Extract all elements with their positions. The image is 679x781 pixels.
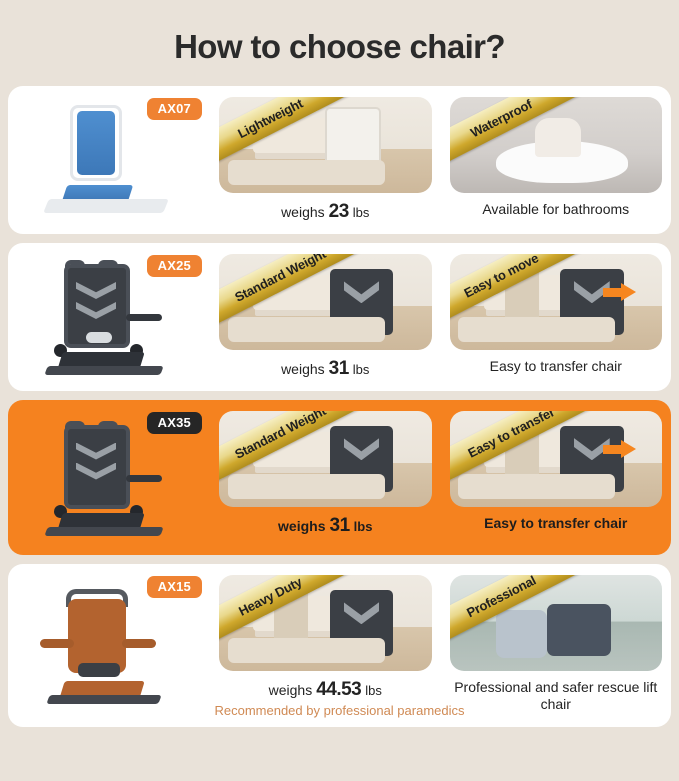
feature-photo: Easy to transfer: [450, 411, 663, 507]
model-badge-ax35[interactable]: AX35: [147, 412, 202, 434]
feature-caption: Easy to transfer chair: [490, 358, 622, 375]
chair-armrest-right: [122, 639, 156, 648]
product-cell: AX07: [8, 86, 210, 234]
product-row-ax15[interactable]: AX15 Heavy: [8, 564, 671, 727]
product-cell: AX25: [8, 243, 210, 391]
chair-armrest: [126, 314, 162, 321]
weight-prefix: weighs: [269, 682, 313, 699]
upright-chair-illustration: [560, 426, 624, 491]
chair-image-ax07: [34, 103, 184, 223]
weight-unit: lbs: [354, 519, 373, 535]
weight-number: 44.53: [316, 679, 361, 702]
weight-number: 31: [329, 358, 349, 381]
feature-caption: weighs 31 lbs: [281, 358, 369, 381]
right-arrow-icon: [603, 440, 637, 458]
weight-unit: lbs: [365, 683, 382, 699]
paramedic-recommendation-note: Recommended by professional paramedics: [8, 703, 671, 718]
product-row-ax07[interactable]: AX07 Lightweight: [8, 86, 671, 234]
feature-caption: weighs 44.53 lbs: [269, 679, 382, 702]
feature-photo: Heavy Duty: [219, 575, 432, 671]
chair-image-ax15: [34, 589, 184, 709]
feature-caption: weighs 31 lbs: [278, 515, 372, 538]
chair-image-ax35: [34, 421, 184, 541]
product-rows: AX07 Lightweight: [0, 86, 679, 727]
model-badge-ax25[interactable]: AX25: [147, 255, 202, 277]
feature-caption: weighs 23 lbs: [281, 201, 369, 224]
weight-number: 31: [330, 515, 350, 538]
weight-unit: lbs: [353, 362, 370, 378]
feature-photo: Standard Weight: [219, 254, 432, 350]
weight-number: 23: [329, 201, 349, 224]
folded-chair-illustration: [330, 269, 394, 334]
feature-photo: Standard Weight: [219, 411, 432, 507]
feature-photo: Waterproof: [450, 97, 663, 193]
chair-armrest-left: [40, 639, 74, 648]
chair-base-rail: [44, 527, 163, 536]
chair-frame: [64, 425, 130, 509]
brand-logo: [78, 663, 120, 677]
feature-caption: Easy to transfer chair: [484, 515, 627, 532]
page-title: How to choose chair?: [0, 0, 679, 86]
model-badge-ax07[interactable]: AX07: [147, 98, 202, 120]
feature-photo: Easy to move: [450, 254, 663, 350]
feature-cell-easy-to-transfer: Easy to transfer Easy to transfer chair: [441, 400, 672, 555]
weight-prefix: weighs: [281, 361, 325, 378]
folded-chair-illustration: [560, 269, 624, 334]
folded-chair-illustration: [330, 590, 394, 655]
chair-backpad: [77, 111, 115, 175]
feature-cell-waterproof: Waterproof Available for bathrooms: [441, 86, 672, 234]
chair-armrest: [126, 475, 162, 482]
folded-chair-illustration: [330, 426, 394, 491]
infographic-page: How to choose chair? AX07: [0, 0, 679, 781]
product-cell: AX35: [8, 400, 210, 555]
chair-image-ax25: [34, 260, 184, 380]
chair-base-rail: [44, 366, 163, 375]
feature-caption: Available for bathrooms: [482, 201, 629, 218]
model-badge-ax15[interactable]: AX15: [147, 576, 202, 598]
weight-prefix: weighs: [278, 518, 325, 535]
product-row-ax35[interactable]: AX35: [8, 400, 671, 555]
weight-prefix: weighs: [281, 204, 325, 221]
chair-base: [43, 199, 169, 213]
right-arrow-icon: [603, 283, 637, 301]
feature-cell-standard-weight: Standard Weight weighs 31 lbs: [210, 400, 441, 555]
brand-logo: [86, 332, 112, 343]
product-row-ax25[interactable]: AX25: [8, 243, 671, 391]
folded-chair-illustration: [325, 107, 380, 178]
weight-unit: lbs: [353, 205, 370, 221]
feature-cell-easy-to-move: Easy to move Easy to transfer chair: [441, 243, 672, 391]
feature-cell-lightweight: Lightweight weighs 23 lbs: [210, 86, 441, 234]
chair-frame: [68, 599, 126, 673]
feature-cell-standard-weight: Standard Weight weighs 31 lbs: [210, 243, 441, 391]
feature-photo: Professional: [450, 575, 663, 671]
feature-photo: Lightweight: [219, 97, 432, 193]
